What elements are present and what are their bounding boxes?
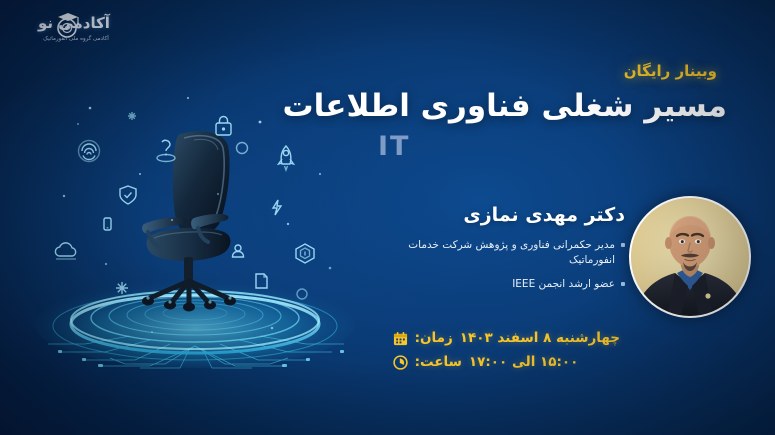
cloud-icon (55, 243, 76, 259)
avatar (631, 198, 749, 316)
time-value: ۱۵:۰۰ الی ۱۷:۰۰ (469, 354, 578, 370)
brand-tagline: آکادمی گروه ملی انفورماتیک (14, 36, 138, 42)
question-mark-icon (157, 140, 175, 161)
lightning-bolt-icon (273, 200, 281, 215)
lock-icon (216, 117, 231, 136)
calendar-icon (393, 331, 408, 346)
page-title: مسیر شغلی فناوری اطلاعات (282, 88, 727, 124)
credential-text: عضو ارشد انجمن IEEE (375, 277, 615, 292)
mobile-icon (104, 218, 111, 230)
schedule-block: چهارشنبه ۸ اسفند ۱۴۰۳ زمان: ۱۵:۰۰ الی ۱۷… (393, 330, 620, 378)
bullet-dot-icon (621, 282, 625, 286)
speaker-credentials: مدیر حکمرانی فناوری و پژوهش شرکت خدمات ا… (375, 238, 625, 302)
brand-logo[interactable]: آکادمی نو آکادمی گروه ملی انفورماتیک (14, 7, 134, 51)
chip-hexagon-icon (296, 244, 314, 263)
speaker-portrait (629, 196, 751, 318)
circle-icon (297, 289, 307, 299)
list-item: مدیر حکمرانی فناوری و پژوهش شرکت خدمات ا… (375, 238, 625, 268)
date-label: زمان: (415, 330, 453, 346)
user-icon (233, 245, 244, 257)
fingerprint-icon (79, 141, 100, 162)
rocket-icon (279, 146, 294, 170)
snowflake-icon (116, 282, 128, 294)
webinar-banner: آکادمی نو آکادمی گروه ملی انفورماتیک وبی… (0, 0, 775, 435)
list-item: عضو ارشد انجمن IEEE (375, 277, 625, 292)
schedule-row-date: چهارشنبه ۸ اسفند ۱۴۰۳ زمان: (393, 330, 620, 346)
speaker-name: دکتر مهدی نمازی (463, 204, 625, 226)
time-label: ساعت: (415, 354, 462, 370)
credential-text: مدیر حکمرانی فناوری و پژوهش شرکت خدمات ا… (375, 238, 615, 268)
circle-icon (237, 143, 248, 154)
kicker-label: وبینار رایگان (624, 62, 717, 80)
snowflake-icon (128, 112, 136, 120)
shield-icon (120, 186, 136, 204)
bullet-dot-icon (621, 243, 625, 247)
schedule-row-time: ۱۵:۰۰ الی ۱۷:۰۰ ساعت: (393, 354, 620, 370)
document-icon (256, 274, 267, 288)
date-value: چهارشنبه ۸ اسفند ۱۴۰۳ (460, 330, 620, 346)
clock-icon (393, 355, 408, 370)
title-subtitle: IT (378, 131, 410, 162)
brand-wordmark: آکادمی نو (14, 14, 134, 32)
